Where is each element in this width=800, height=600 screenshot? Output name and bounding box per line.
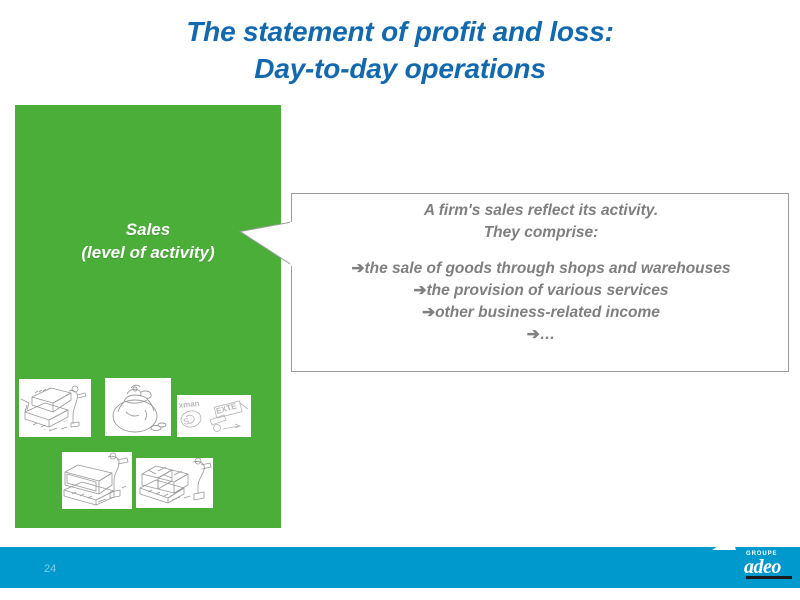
checkout-counter-sketch: [19, 379, 91, 437]
callout-intro-line-1: A firm's sales reflect its activity.: [296, 200, 786, 222]
arrow-icon: ➔: [351, 260, 364, 277]
callout-bullet-1: ➔the sale of goods through shops and war…: [296, 258, 786, 280]
callout-bullet-3-label: other business-related income: [435, 304, 660, 321]
brand-labels-sketch: xman EXTE S: [177, 395, 251, 437]
svg-text:xman: xman: [178, 399, 200, 410]
callout-intro-line-2: They comprise:: [296, 222, 786, 244]
callout-bullet-4: ➔…: [296, 324, 786, 346]
page-title: The statement of profit and loss: Day-to…: [0, 14, 800, 88]
shelf-unit-sketch: [62, 452, 132, 509]
callout-bullet-4-label: …: [540, 326, 556, 343]
arrow-icon: ➔: [422, 304, 435, 321]
footer-bar: [0, 547, 800, 588]
callout-bullet-3: ➔other business-related income: [296, 302, 786, 324]
footer-notch-icon: [712, 537, 736, 550]
adeo-logo: adeo: [742, 556, 800, 582]
arrow-icon: ➔: [413, 282, 426, 299]
callout-bullet-1-label: the sale of goods through shops and ware…: [364, 260, 730, 277]
callout-tail-icon: [240, 222, 294, 266]
svg-text:S: S: [182, 416, 190, 427]
svg-text:adeo: adeo: [744, 556, 781, 578]
callout-bullet-2: ➔the provision of various services: [296, 280, 786, 302]
page-number: 24: [44, 563, 56, 575]
arrow-icon: ➔: [527, 326, 540, 343]
boxed-goods-sketch: [136, 458, 213, 508]
callout-spacer: [296, 244, 786, 258]
callout-text: A firm's sales reflect its activity. The…: [296, 200, 786, 346]
money-bag-sketch: [105, 378, 171, 436]
callout-bullet-2-label: the provision of various services: [426, 282, 668, 299]
